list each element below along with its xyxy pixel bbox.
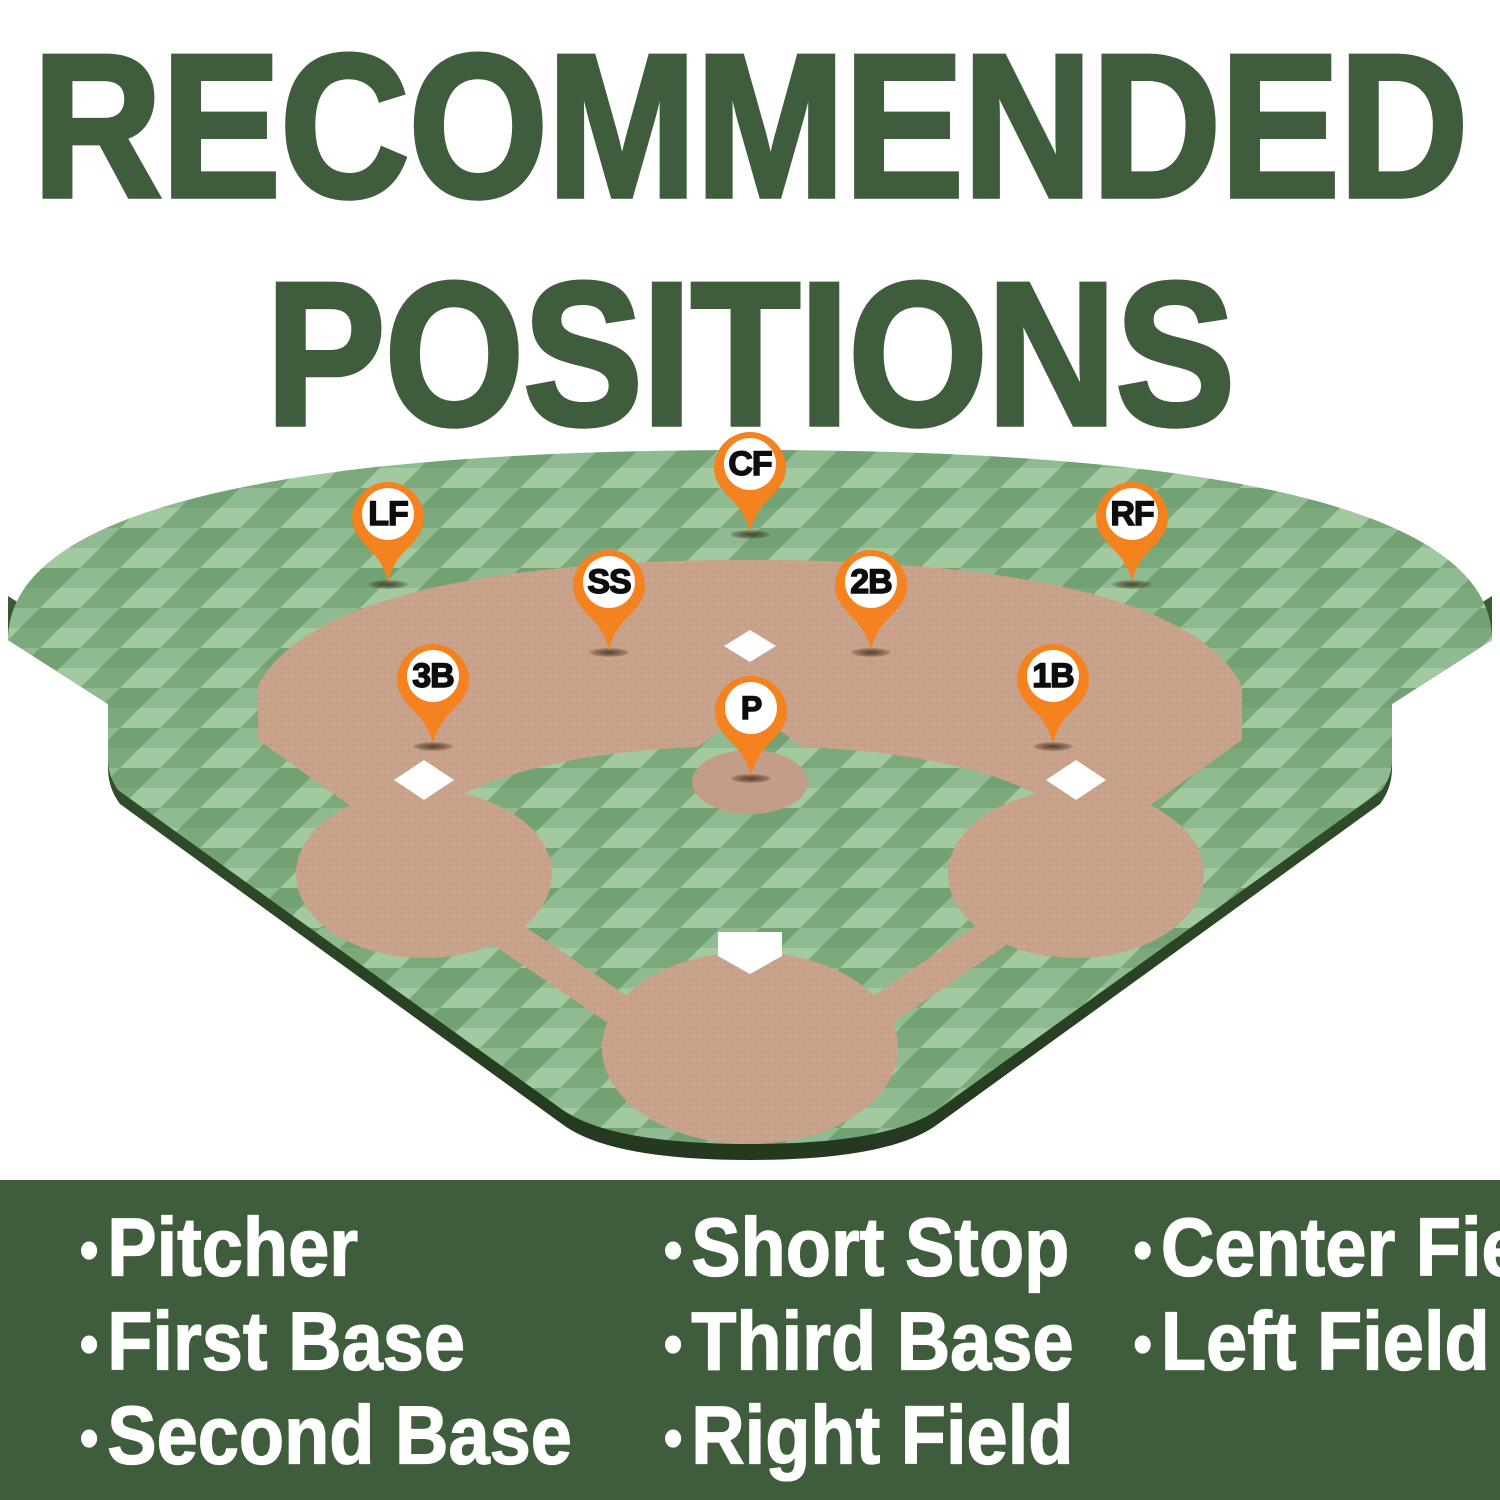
bullet-icon: •: [664, 1410, 682, 1468]
legend-item: •Right Field: [664, 1394, 1074, 1477]
bullet-icon: •: [80, 1410, 98, 1468]
legend-item: •Left Field: [1134, 1300, 1500, 1383]
legend-item-label: Center Field: [1161, 1206, 1500, 1289]
position-marker-2b[interactable]: 2B: [833, 548, 909, 652]
title-line-primary: RECOMMENDED: [0, 34, 1500, 222]
legend-item: •Second Base: [80, 1394, 572, 1477]
legend-column-2: •Short Stop•Third Base•Right Field: [572, 1206, 1074, 1500]
marker-label-cf: CF: [712, 430, 788, 498]
bullet-icon: •: [664, 1222, 682, 1280]
marker-label-1b: 1B: [1015, 642, 1091, 710]
positions-legend: •Pitcher•First Base•Second Base •Short S…: [0, 1180, 1500, 1500]
legend-item: •First Base: [80, 1300, 572, 1383]
bullet-icon: •: [80, 1316, 98, 1374]
home-plate-circle: [602, 952, 898, 1144]
title-line-secondary: POSITIONS: [0, 262, 1500, 450]
legend-column-3: •Center Field•Left Field: [1074, 1206, 1500, 1500]
page-title: RECOMMENDED POSITIONS: [0, 0, 1500, 420]
legend-item-label: First Base: [107, 1300, 465, 1383]
marker-label-p: P: [713, 674, 789, 742]
bullet-icon: •: [80, 1222, 98, 1280]
marker-label-lf: LF: [350, 480, 426, 548]
position-marker-cf[interactable]: CF: [712, 430, 788, 534]
marker-label-rf: RF: [1094, 480, 1170, 548]
marker-label-2b: 2B: [833, 548, 909, 616]
legend-column-1: •Pitcher•First Base•Second Base: [0, 1206, 572, 1500]
position-marker-ss[interactable]: SS: [571, 548, 647, 652]
bullet-icon: •: [664, 1316, 682, 1374]
legend-item: •Short Stop: [664, 1206, 1074, 1289]
bullet-icon: •: [1134, 1222, 1152, 1280]
position-marker-1b[interactable]: 1B: [1015, 642, 1091, 746]
legend-item: •Pitcher: [80, 1206, 572, 1289]
legend-item-label: Short Stop: [691, 1206, 1069, 1289]
legend-item-label: Second Base: [107, 1394, 572, 1477]
position-marker-3b[interactable]: 3B: [395, 642, 471, 746]
marker-label-3b: 3B: [395, 642, 471, 710]
legend-item-label: Third Base: [691, 1300, 1073, 1383]
position-marker-lf[interactable]: LF: [350, 480, 426, 584]
position-marker-rf[interactable]: RF: [1094, 480, 1170, 584]
legend-item-label: Right Field: [691, 1394, 1073, 1477]
legend-item: •Center Field: [1134, 1206, 1500, 1289]
legend-item-label: Pitcher: [107, 1206, 358, 1289]
marker-label-ss: SS: [571, 548, 647, 616]
legend-item-label: Left Field: [1161, 1300, 1490, 1383]
position-marker-p[interactable]: P: [713, 674, 789, 778]
legend-item: •Third Base: [664, 1300, 1074, 1383]
bullet-icon: •: [1134, 1316, 1152, 1374]
